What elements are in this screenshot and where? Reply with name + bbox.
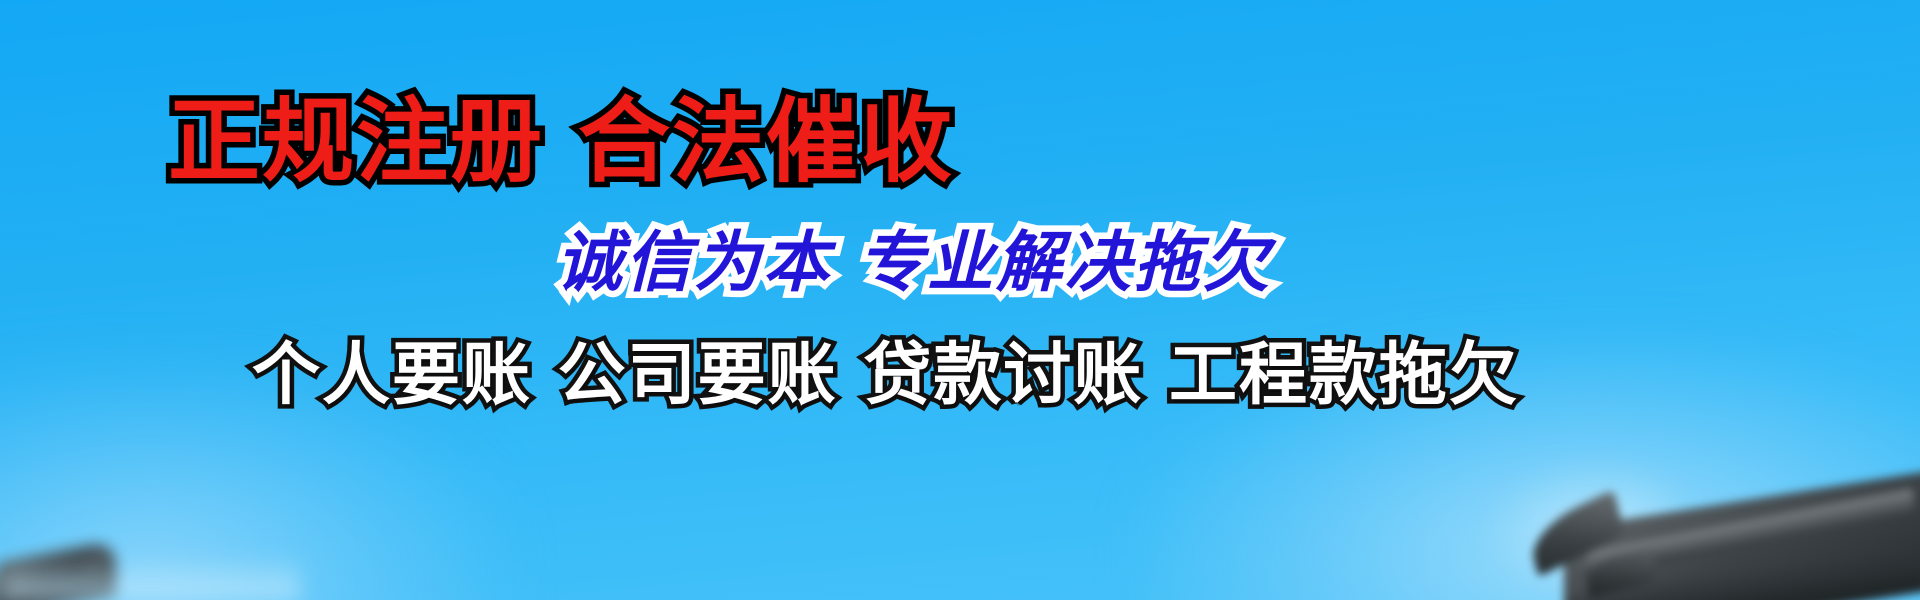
banner-services-line: 个人要账 公司要账 贷款讨账 工程款拖欠 [252,342,1519,410]
banner-text-stack: 正规注册 合法催收 诚信为本 专业解决拖欠 个人要账 公司要账 贷款讨账 工程款… [0,0,1920,600]
promo-banner: 正规注册 合法催收 诚信为本 专业解决拖欠 个人要账 公司要账 贷款讨账 工程款… [0,0,1920,600]
banner-headline: 正规注册 合法催收 [168,96,954,188]
banner-subtitle: 诚信为本 专业解决拖欠 [556,230,1272,296]
